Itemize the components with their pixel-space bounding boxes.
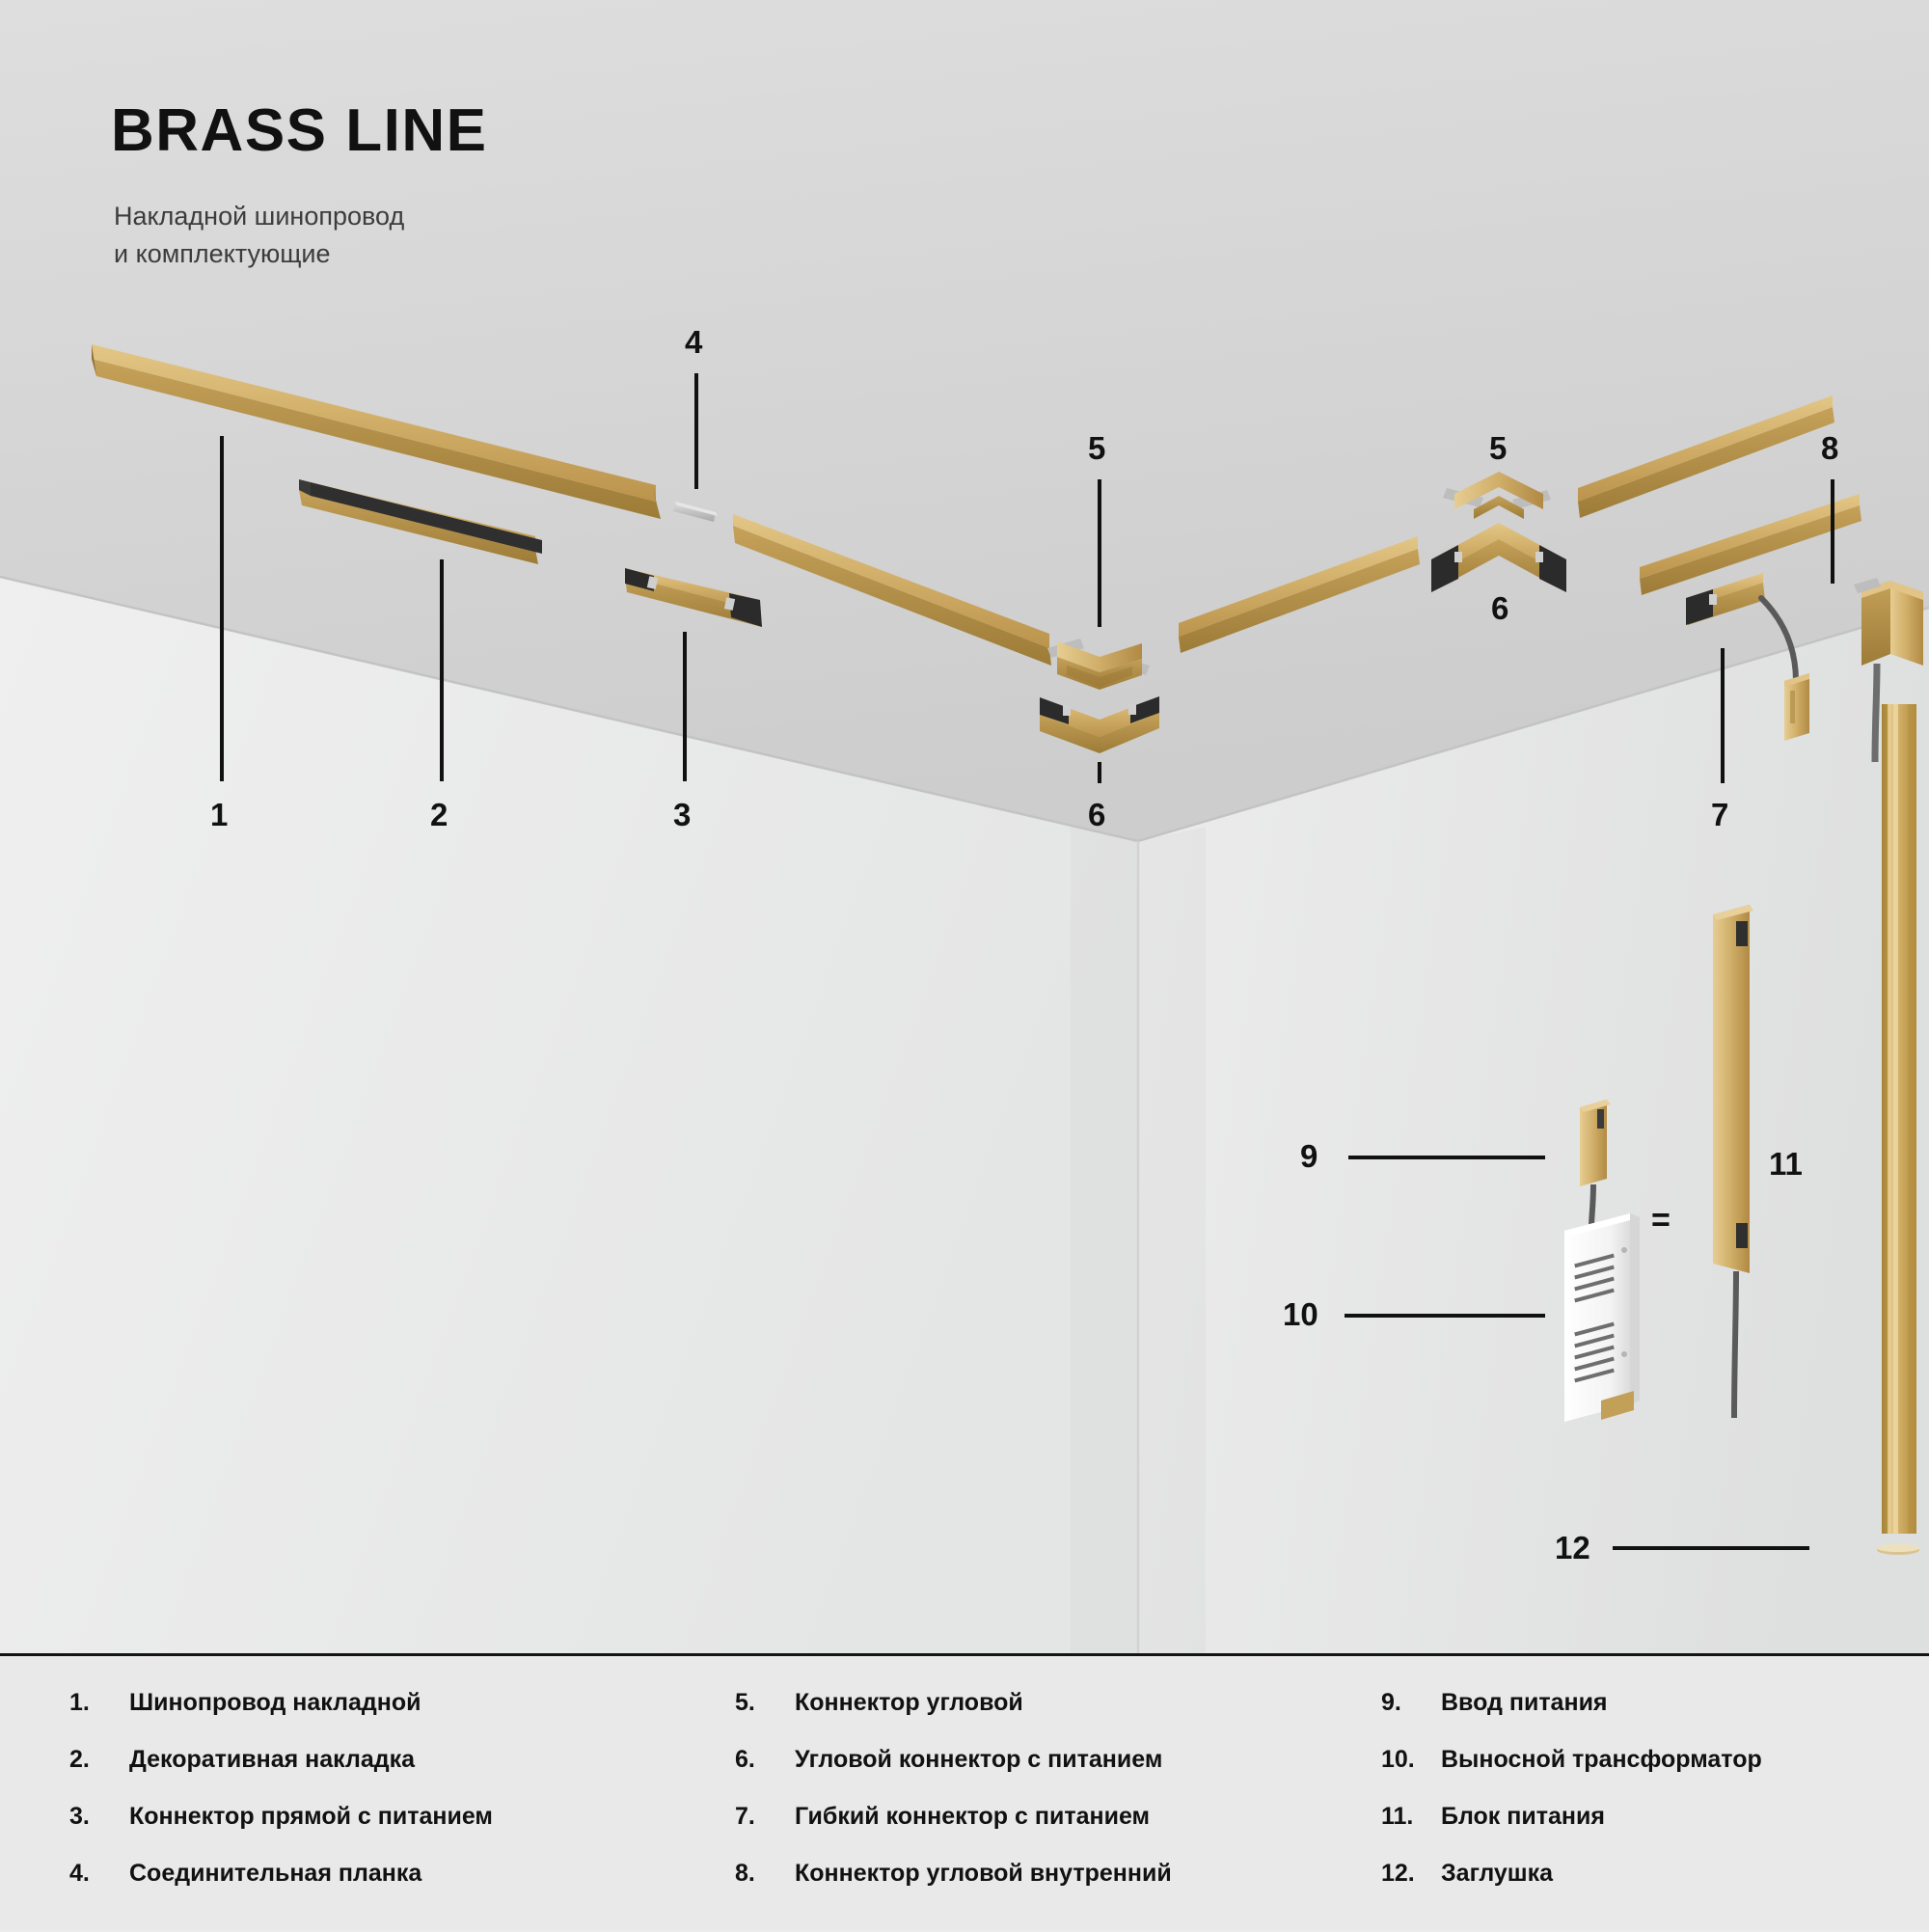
callout-5b: 5 — [1489, 432, 1507, 464]
legend-item: 10. Выносной трансформатор — [1381, 1746, 1762, 1803]
callout-11: 11 — [1769, 1148, 1803, 1180]
legend-item: 3. Коннектор прямой с питанием — [69, 1803, 493, 1860]
legend-item-label: Заглушка — [1441, 1860, 1553, 1888]
callout-9: 9 — [1300, 1140, 1318, 1172]
legend-item-label: Коннектор угловой — [795, 1689, 1023, 1717]
legend-item-number: 10. — [1381, 1746, 1441, 1774]
legend-item-number: 7. — [735, 1803, 795, 1831]
legend-item-number: 2. — [69, 1746, 129, 1774]
room-scene: BRASS LINE Накладной шинопровод и компле… — [0, 0, 1929, 1653]
legend-item: 1. Шинопровод накладной — [69, 1689, 493, 1746]
remote-transformer-10 — [1564, 1213, 1640, 1422]
legend-item-number: 11. — [1381, 1803, 1441, 1831]
page-title: BRASS LINE — [111, 101, 487, 161]
legend-column-1: 1. Шинопровод накладной 2. Декоративная … — [69, 1689, 493, 1917]
legend-item-number: 9. — [1381, 1689, 1441, 1717]
callout-6a: 6 — [1088, 799, 1105, 830]
legend-panel: 1. Шинопровод накладной 2. Декоративная … — [0, 1653, 1929, 1929]
legend-item-label: Блок питания — [1441, 1803, 1605, 1831]
legend-item: 11. Блок питания — [1381, 1803, 1762, 1860]
legend-item-number: 6. — [735, 1746, 795, 1774]
legend-item: 4. Соединительная планка — [69, 1860, 493, 1917]
legend-item: 6. Угловой коннектор с питанием — [735, 1746, 1172, 1803]
legend-column-3: 9. Ввод питания 10. Выносной трансформат… — [1381, 1689, 1762, 1917]
legend-item: 12. Заглушка — [1381, 1860, 1762, 1917]
equals-sign: = — [1651, 1204, 1671, 1237]
legend-item: 7. Гибкий коннектор с питанием — [735, 1803, 1172, 1860]
legend-item: 2. Декоративная накладка — [69, 1746, 493, 1803]
callout-8: 8 — [1821, 432, 1838, 464]
legend-column-2: 5. Коннектор угловой 6. Угловой коннекто… — [735, 1689, 1172, 1917]
callout-2: 2 — [430, 799, 448, 830]
legend-item-label: Соединительная планка — [129, 1860, 421, 1888]
legend-item-number: 5. — [735, 1689, 795, 1717]
end-cap-12 — [1877, 1544, 1919, 1555]
callout-1: 1 — [210, 799, 228, 830]
callout-3: 3 — [673, 799, 691, 830]
legend-item: 9. Ввод питания — [1381, 1689, 1762, 1746]
callout-10: 10 — [1283, 1298, 1318, 1330]
legend-item-number: 4. — [69, 1860, 129, 1888]
page-subtitle: Накладной шинопровод и комплектующие — [114, 198, 404, 273]
callout-7: 7 — [1711, 799, 1728, 830]
callout-4: 4 — [685, 326, 702, 358]
callout-12: 12 — [1555, 1532, 1590, 1564]
legend-item-number: 1. — [69, 1689, 129, 1717]
callout-6b: 6 — [1491, 592, 1508, 624]
legend-item-label: Гибкий коннектор с питанием — [795, 1803, 1150, 1831]
legend-item-label: Выносной трансформатор — [1441, 1746, 1762, 1774]
poster-root: BRASS LINE Накладной шинопровод и компле… — [0, 0, 1929, 1929]
legend-item-label: Угловой коннектор с питанием — [795, 1746, 1162, 1774]
callout-5a: 5 — [1088, 432, 1105, 464]
legend-item-number: 3. — [69, 1803, 129, 1831]
legend-item-label: Коннектор угловой внутренний — [795, 1860, 1172, 1888]
legend-item-label: Ввод питания — [1441, 1689, 1608, 1717]
legend-item-number: 8. — [735, 1860, 795, 1888]
legend-item: 5. Коннектор угловой — [735, 1689, 1172, 1746]
vertical-track-rail — [1882, 704, 1916, 1534]
legend-item-label: Коннектор прямой с питанием — [129, 1803, 493, 1831]
legend-item-label: Шинопровод накладной — [129, 1689, 421, 1717]
legend-item: 8. Коннектор угловой внутренний — [735, 1860, 1172, 1917]
legend-item-label: Декоративная накладка — [129, 1746, 415, 1774]
legend-item-number: 12. — [1381, 1860, 1441, 1888]
